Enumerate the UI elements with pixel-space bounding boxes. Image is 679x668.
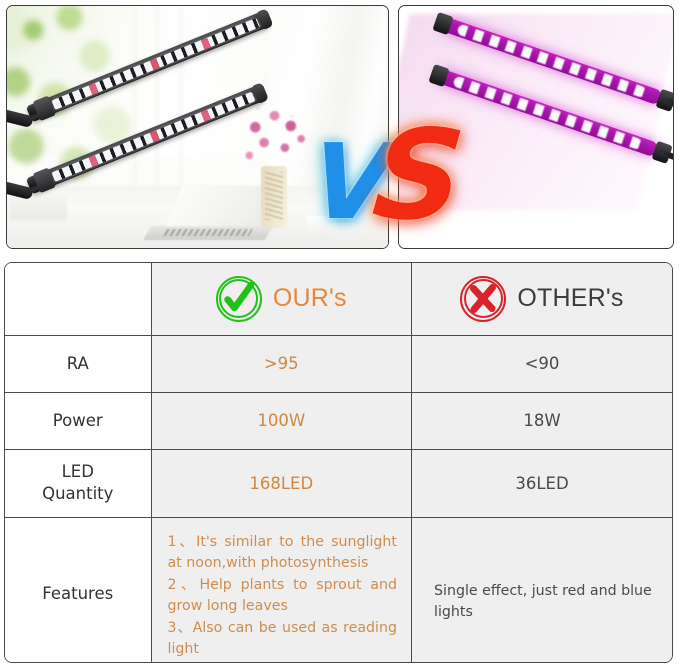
- row-value-ours-led-quantity: 168LED: [151, 449, 412, 517]
- laptop-keyboard: [163, 229, 253, 236]
- table-row: LED Quantity 168LED 36LED: [5, 449, 672, 517]
- row-value-others-power: 18W: [412, 392, 673, 449]
- row-value-ours-ra: >95: [151, 335, 412, 392]
- table-header-row: OUR's OTHER's: [5, 263, 672, 335]
- features-others-cell: Single effect, just red and blue lights: [412, 517, 673, 663]
- cup: [307, 216, 337, 240]
- flower-vase: [261, 166, 287, 228]
- green-check-icon: [216, 276, 262, 322]
- feature-item: 2、Help plants to sprout and grow long le…: [168, 575, 398, 618]
- features-ours-cell: 1、It's similar to the sunglight at noon,…: [151, 517, 412, 663]
- others-header-label: OTHER's: [517, 284, 623, 313]
- row-value-others-led-quantity: 36LED: [412, 449, 673, 517]
- pink-flowers: [239, 108, 313, 172]
- red-cross-icon: [460, 276, 506, 322]
- row-value-others-ra: <90: [412, 335, 673, 392]
- row-label-features: Features: [5, 517, 151, 663]
- feature-item: 1、It's similar to the sunglight at noon,…: [168, 532, 398, 575]
- row-label-line1: LED: [62, 462, 94, 481]
- ours-product-photo: [6, 5, 389, 249]
- laptop: [147, 188, 277, 244]
- row-label-power: Power: [5, 392, 151, 449]
- header-blank-cell: [5, 263, 151, 335]
- table-row: Power 100W 18W: [5, 392, 672, 449]
- row-label-ra: RA: [5, 335, 151, 392]
- header-ours-cell: OUR's: [151, 263, 412, 335]
- others-product-photo: [398, 5, 674, 249]
- row-value-ours-power: 100W: [151, 392, 412, 449]
- row-label-led-quantity: LED Quantity: [5, 449, 151, 517]
- product-photo-area: V S: [0, 0, 679, 258]
- row-label-line2: Quantity: [42, 484, 113, 503]
- comparison-table: OUR's OTHER's RA: [4, 262, 673, 663]
- table-row-features: Features 1、It's similar to the sunglight…: [5, 517, 672, 663]
- ours-header-label: OUR's: [273, 284, 347, 313]
- table-row: RA >95 <90: [5, 335, 672, 392]
- header-others-cell: OTHER's: [412, 263, 673, 335]
- feature-item: 3、Also can be used as reading light: [168, 618, 398, 661]
